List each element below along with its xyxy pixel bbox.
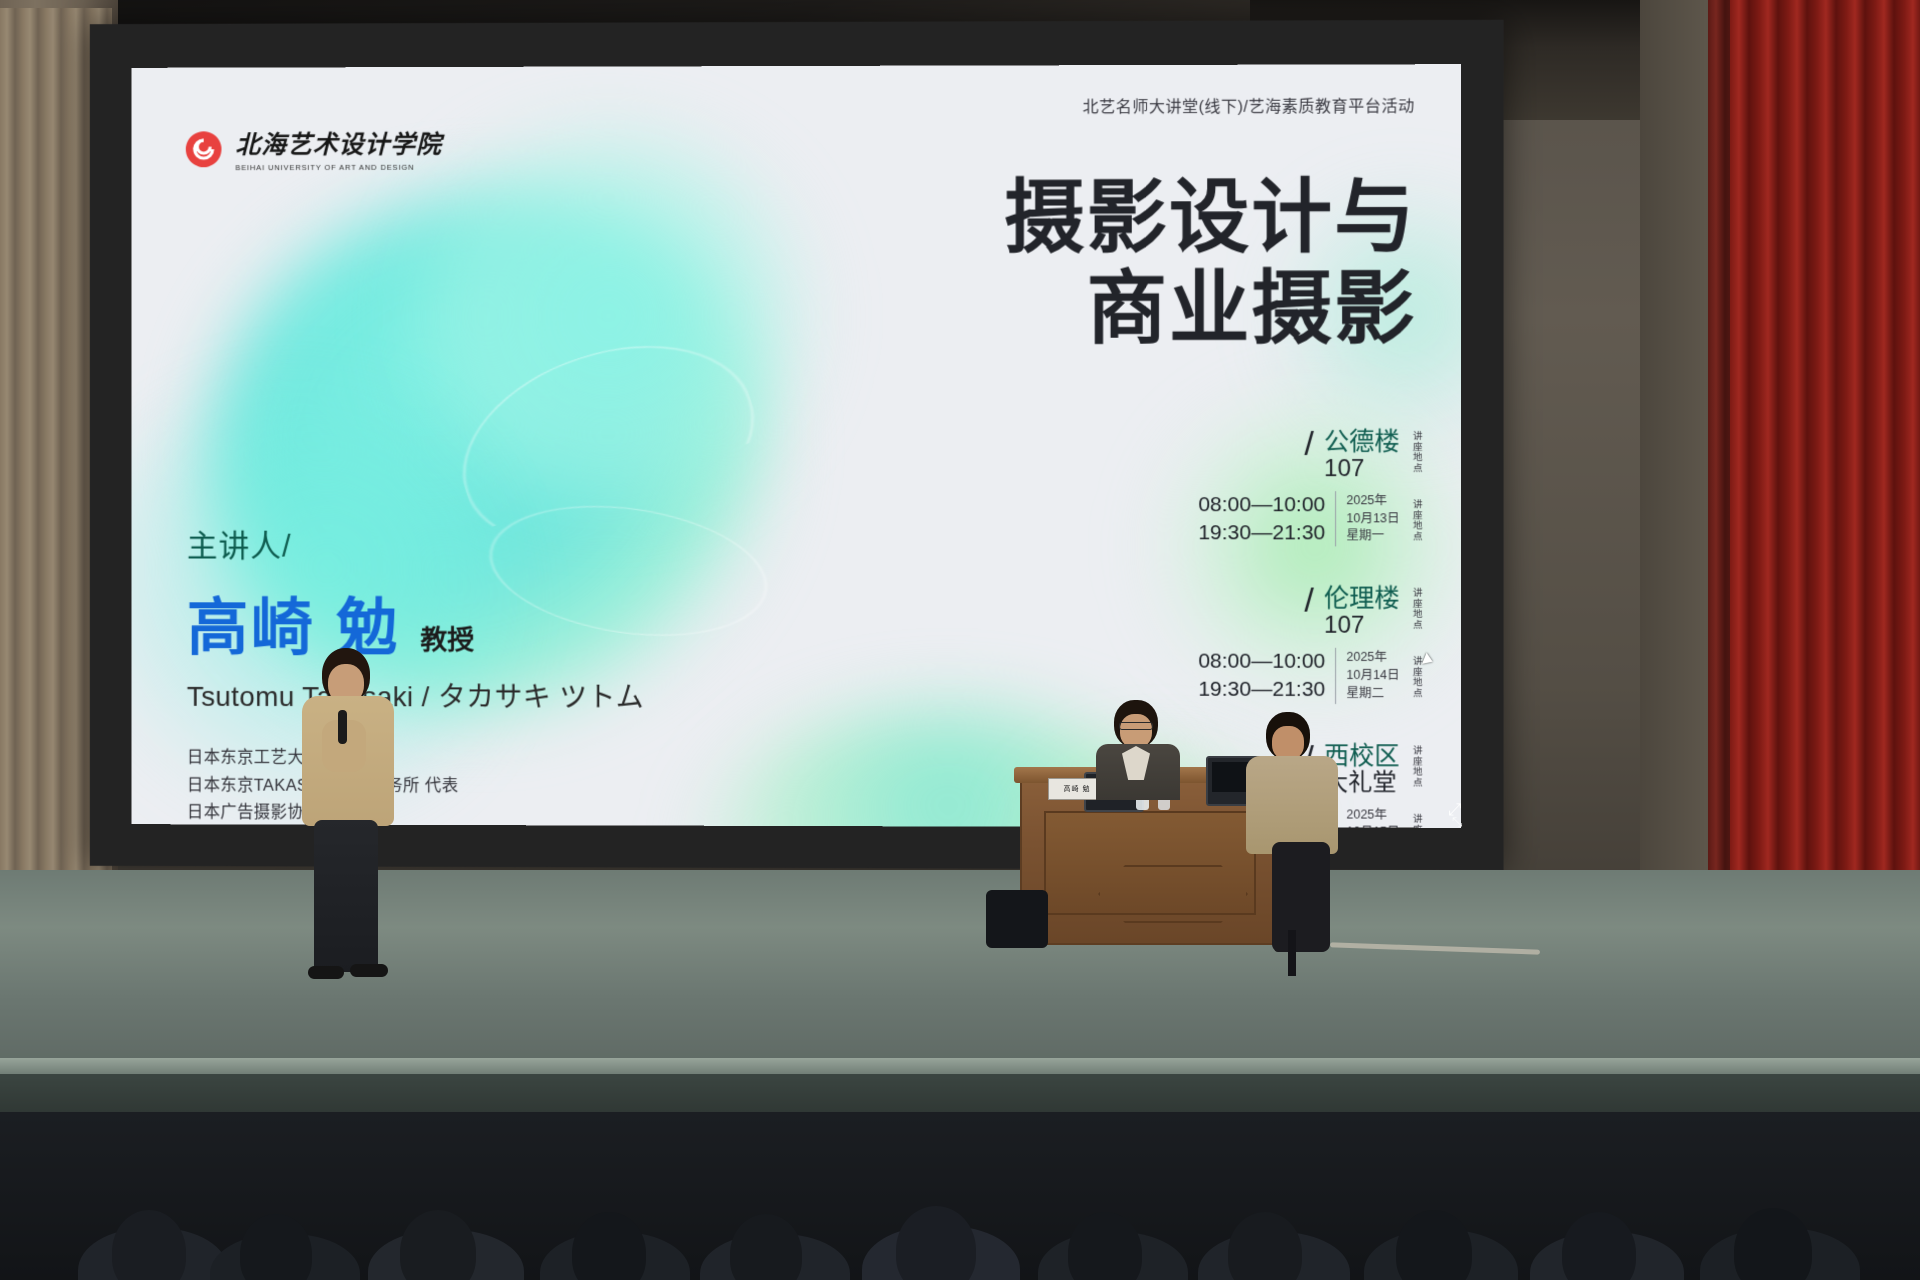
session-date-day: 10月14日: [1346, 667, 1399, 685]
university-logo: 北海艺术设计学院 BEIHAI UNIVERSITY OF ART AND DE…: [183, 125, 442, 172]
session-date-year: 2025年: [1346, 806, 1399, 824]
desk-diamond-motif: [1098, 865, 1248, 923]
session-room: 107: [1324, 613, 1400, 640]
presenter-shoe: [308, 966, 344, 979]
session-venue: 公德楼: [1324, 428, 1400, 456]
glasses-icon: [1119, 722, 1153, 730]
logo-english-name: BEIHAI UNIVERSITY OF ART AND DESIGN: [235, 163, 442, 172]
speaker-rank: 教授: [420, 619, 474, 658]
desk-front-panel: [1044, 811, 1256, 915]
session-venue-label: 讲座地点: [1410, 745, 1421, 787]
audience-head: [240, 1214, 312, 1280]
microphone-icon: [338, 710, 347, 744]
speaker-info-block: 主讲人/ 高崎 勉 教授 Tsutomu Takasaki / タカサキ ツトム…: [187, 521, 644, 828]
session-slash: /: [1304, 585, 1314, 617]
guest-face: [1120, 714, 1152, 748]
speaker-latin-name: Tsutomu Takasaki / タカサキ ツトム: [187, 675, 644, 716]
slide-header-text: 北艺名师大讲堂(线下)/艺海素质教育平台活动: [1082, 92, 1414, 117]
audience-head: [572, 1212, 646, 1280]
slide-title-line-2: 商业摄影: [1004, 262, 1416, 354]
session-entry: / 伦理楼 107 讲座地点 08:00—10:00 19:30—21:30: [1089, 585, 1421, 704]
logo-chinese-name: 北海艺术设计学院: [235, 125, 442, 161]
seated-guest-right: [1246, 712, 1338, 862]
seated-guest-left: [1092, 700, 1182, 792]
audience-head: [1068, 1212, 1142, 1280]
session-time-evening: 19:30—21:30: [1198, 676, 1325, 704]
session-date-weekday: 星期二: [1346, 685, 1399, 703]
audience-head: [112, 1210, 186, 1280]
session-date-year: 2025年: [1346, 649, 1399, 667]
session-slash: /: [1304, 428, 1314, 460]
session-date-label: 讲座地点: [1410, 656, 1421, 698]
office-chair: [1272, 842, 1330, 952]
resize-handle-icon[interactable]: ⤡: [1452, 814, 1462, 830]
bio-line: 日本广告摄影协会奖获奖: [187, 800, 644, 828]
session-entry: / 公德楼 107 讲座地点 08:00—10:00 19:30—21:30: [1089, 428, 1421, 547]
audience-head: [1562, 1212, 1636, 1280]
bio-line: 日本东京TAKASAKI写真事务所 代表: [187, 772, 644, 801]
slide-title: 摄影设计与 商业摄影: [1004, 171, 1416, 354]
session-time-evening: 19:30—21:30: [1198, 519, 1325, 547]
session-date-label: 讲座地点: [1410, 813, 1421, 827]
session-date-year: 2025年: [1346, 492, 1399, 510]
divider: [1335, 648, 1336, 704]
audience-head: [1396, 1210, 1472, 1280]
speaker-kicker: 主讲人/: [187, 521, 644, 566]
spiral-logo-icon: [183, 128, 225, 170]
audience-head: [400, 1210, 476, 1280]
bag: [986, 890, 1048, 948]
session-venue-label: 讲座地点: [1410, 588, 1421, 630]
audience-head: [896, 1206, 976, 1280]
slide-title-line-1: 摄影设计与: [1004, 171, 1416, 263]
presenter-legs: [314, 820, 378, 972]
session-date-day: 10月13日: [1346, 510, 1399, 528]
session-date-label: 讲座地点: [1410, 499, 1421, 541]
speaker-bio-list: 日本东京工艺大学 教授 日本东京TAKASAKI写真事务所 代表 日本广告摄影协…: [187, 745, 644, 828]
session-time-morning: 08:00—10:00: [1198, 648, 1325, 676]
audience-row: [0, 1112, 1920, 1280]
session-venue-label: 讲座地点: [1410, 431, 1421, 473]
bio-line: 日本东京工艺大学 教授: [187, 745, 644, 774]
session-date-day: 10月15日: [1346, 824, 1399, 828]
guest-face: [1272, 726, 1304, 760]
audience-head: [1734, 1208, 1812, 1280]
guest-torso: [1246, 756, 1338, 854]
divider: [1335, 491, 1336, 547]
audience-head: [730, 1214, 802, 1280]
audience-head: [1228, 1212, 1302, 1280]
session-time-morning: 08:00—10:00: [1198, 491, 1325, 519]
session-venue: 伦理楼: [1324, 585, 1400, 613]
chair-leg: [1288, 930, 1296, 976]
presenter-shoe: [350, 964, 388, 977]
session-room: 107: [1324, 456, 1400, 483]
session-date-weekday: 星期一: [1346, 528, 1399, 546]
screenshot-root: 北艺名师大讲堂(线下)/艺海素质教育平台活动 北海艺术设计学院 BEIHAI U…: [0, 0, 1920, 1280]
standing-presenter: [300, 648, 396, 978]
